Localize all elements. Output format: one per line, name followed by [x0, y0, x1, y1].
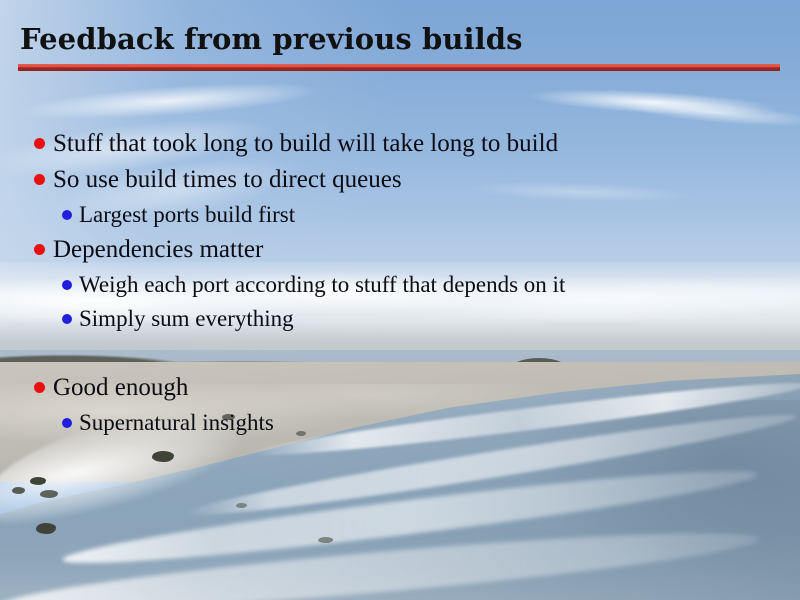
beach-debris: [318, 537, 333, 543]
bullet-text: Supernatural insights: [79, 408, 274, 437]
bullet-text: So use build times to direct queues: [53, 164, 402, 195]
beach-debris: [236, 503, 247, 508]
bullet-text: Good enough: [53, 372, 188, 403]
bullet-text: Stuff that took long to build will take …: [53, 128, 558, 159]
bullet-text: Weigh each port according to stuff that …: [79, 270, 565, 299]
bullet-item: Largest ports build first: [0, 200, 800, 234]
cirrus-cloud-icon: [519, 75, 800, 132]
bullet-item: Stuff that took long to build will take …: [0, 128, 800, 164]
bullet-dot-blue-icon: [62, 418, 72, 428]
bullet-dot-red-icon: [34, 174, 45, 185]
slide-title: Feedback from previous builds: [20, 22, 523, 56]
list-spacer: [0, 338, 800, 372]
bullet-item: Supernatural insights: [0, 408, 800, 442]
slide-bullet-list: Stuff that took long to build will take …: [0, 128, 800, 442]
presentation-slide: Feedback from previous builds Stuff that…: [0, 0, 800, 600]
bullet-item: Dependencies matter: [0, 234, 800, 270]
beach-debris: [152, 451, 174, 462]
bullet-dot-blue-icon: [62, 314, 72, 324]
bullet-item: Simply sum everything: [0, 304, 800, 338]
bullet-dot-blue-icon: [62, 280, 72, 290]
beach-debris: [12, 487, 25, 494]
beach-debris: [36, 523, 56, 534]
beach-debris: [40, 490, 58, 498]
bullet-item: Good enough: [0, 372, 800, 408]
bullet-item: Weigh each port according to stuff that …: [0, 270, 800, 304]
bullet-item: So use build times to direct queues: [0, 164, 800, 200]
bullet-dot-red-icon: [34, 382, 45, 393]
wave-foam-crest: [0, 519, 760, 600]
bullet-text: Dependencies matter: [53, 234, 263, 265]
bullet-dot-red-icon: [34, 244, 45, 255]
bullet-text: Simply sum everything: [79, 304, 294, 333]
bullet-dot-red-icon: [34, 138, 45, 149]
bullet-text: Largest ports build first: [79, 200, 295, 229]
wave-foam-crest: [61, 457, 760, 576]
beach-debris: [30, 477, 46, 485]
bullet-dot-blue-icon: [62, 210, 72, 220]
title-underline-rule: [18, 64, 780, 71]
